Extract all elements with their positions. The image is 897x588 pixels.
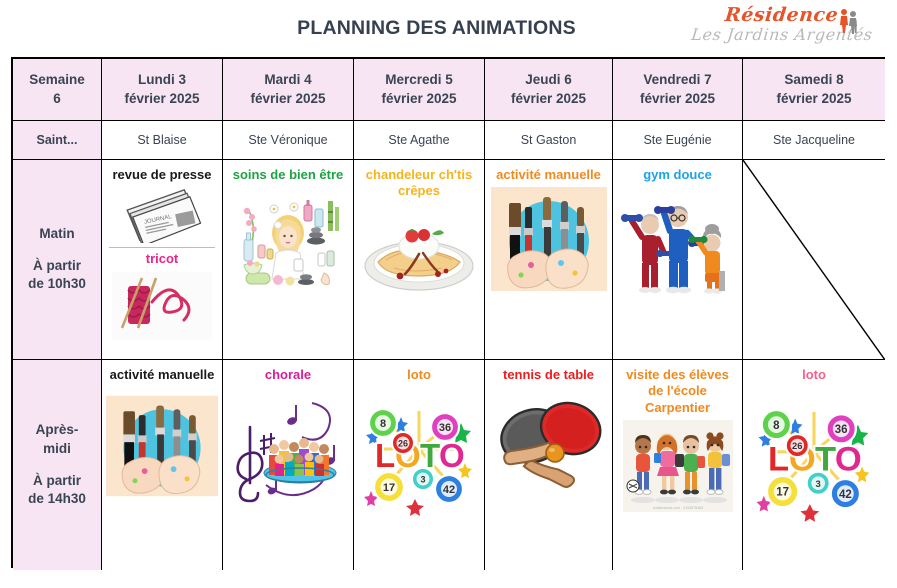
column-header-jeudi: Jeudi 6 février 2025: [485, 59, 613, 121]
crepes-icon: [360, 204, 478, 300]
schoolkids-icon: shutterstock.com · 2153675463: [623, 420, 733, 512]
activity-label: tennis de table: [501, 367, 596, 383]
activity-cell-matin-jeudi[interactable]: activité manuelle: [485, 160, 613, 360]
svg-text:8: 8: [380, 418, 386, 430]
day-date: février 2025: [124, 91, 199, 106]
svg-text:42: 42: [839, 489, 852, 501]
day-name: Mardi 4: [264, 72, 311, 87]
slot-name-line1: Après-: [36, 421, 79, 440]
saints-row-header: Saint...: [13, 121, 102, 160]
activity-cell-matin-vendredi[interactable]: gym douce: [613, 160, 743, 360]
activity-label: loto: [405, 367, 433, 383]
diagonal-strike-icon: [743, 160, 885, 360]
slot-label-apres-midi: Après- midi À partir de 14h30: [13, 360, 102, 570]
activity-cell-matin-mercredi[interactable]: chandeleur ch'tis crêpes: [354, 160, 485, 360]
day-date: février 2025: [776, 91, 851, 106]
svg-text:42: 42: [443, 484, 455, 496]
activity-cell-matin-lundi[interactable]: revue de presse JOURNAL tricot: [102, 160, 223, 360]
paintbrushes-icon: [106, 387, 218, 505]
activity-cell-apresmidi-mercredi[interactable]: loto: [354, 360, 485, 570]
activity-label: soins de bien être: [231, 167, 346, 183]
activity-label: chandeleur ch'tis crêpes: [358, 167, 480, 200]
svg-text:3: 3: [816, 478, 821, 489]
activity-cell-apresmidi-jeudi[interactable]: tennis de table: [485, 360, 613, 570]
cell-divider: [109, 247, 214, 248]
activity-cell-apresmidi-vendredi[interactable]: visite des élèves de l'école Carpentier: [613, 360, 743, 570]
loto-icon: L O T O 8 36 26 3 17: [749, 387, 879, 525]
activity-label: chorale: [263, 367, 313, 383]
saint-vendredi: Ste Eugénie: [613, 121, 743, 160]
column-header-mercredi: Mercredi 5 février 2025: [354, 59, 485, 121]
saint-mardi: Ste Véronique: [223, 121, 354, 160]
knitting-icon: [112, 272, 212, 340]
saint-jeudi: St Gaston: [485, 121, 613, 160]
day-name: Mercredi 5: [385, 72, 453, 87]
svg-text:8: 8: [773, 420, 780, 432]
column-header-samedi: Samedi 8 février 2025: [743, 59, 885, 121]
activity-label: revue de presse: [110, 167, 213, 183]
saint-samedi: Ste Jacqueline: [743, 121, 885, 160]
column-header-lundi: Lundi 3 février 2025: [102, 59, 223, 121]
slot-label-matin: Matin À partir de 10h30: [13, 160, 102, 360]
activity-label-secondary: tricot: [144, 251, 181, 267]
gym-seniors-icon: [620, 187, 736, 297]
residence-logo: Résidence Les Jardins Argentés: [682, 6, 882, 54]
saint-mercredi: Ste Agathe: [354, 121, 485, 160]
svg-text:shutterstock.com · 2153675463: shutterstock.com · 2153675463: [652, 506, 702, 510]
svg-text:O: O: [835, 441, 862, 479]
slot-time-line1: À partir: [33, 257, 81, 276]
week-number: 6: [53, 91, 61, 106]
day-date: février 2025: [640, 91, 715, 106]
pingpong-icon: [487, 387, 611, 499]
day-name: Lundi 3: [138, 72, 186, 87]
day-name: Jeudi 6: [525, 72, 572, 87]
slot-time-line2: de 14h30: [28, 490, 86, 509]
planning-page: PLANNING DES ANIMATIONS Résidence Les Ja…: [0, 0, 897, 588]
logo-line-1: Résidence: [724, 6, 839, 25]
paintbrushes-icon: [491, 187, 607, 291]
newspaper-icon: JOURNAL: [119, 187, 205, 243]
activity-label: gym douce: [641, 167, 714, 183]
planning-table: Semaine 6 Lundi 3 février 2025 Mardi 4 f…: [11, 57, 885, 568]
activity-label: visite des élèves de l'école Carpentier: [617, 367, 738, 416]
slot-name: Matin: [39, 225, 74, 244]
activity-label: activité manuelle: [108, 367, 217, 383]
saint-lundi: St Blaise: [102, 121, 223, 160]
activity-cell-apresmidi-samedi[interactable]: loto: [743, 360, 885, 570]
day-date: février 2025: [250, 91, 325, 106]
svg-text:26: 26: [792, 440, 802, 451]
page-header: PLANNING DES ANIMATIONS Résidence Les Ja…: [0, 0, 897, 58]
day-date: février 2025: [511, 91, 586, 106]
activity-label: activité manuelle: [494, 167, 603, 183]
activity-label: loto: [800, 367, 828, 383]
column-header-vendredi: Vendredi 7 février 2025: [613, 59, 743, 121]
column-header-week: Semaine 6: [13, 59, 102, 121]
activity-cell-apresmidi-mardi[interactable]: chorale: [223, 360, 354, 570]
spa-icon: [232, 187, 344, 295]
svg-text:17: 17: [776, 487, 789, 499]
choir-icon: [226, 387, 350, 507]
column-header-mardi: Mardi 4 février 2025: [223, 59, 354, 121]
slot-time-line2: de 10h30: [28, 275, 86, 294]
loto-icon: L O T O 8 36 26 3 17: [357, 387, 481, 519]
svg-text:26: 26: [398, 439, 408, 449]
svg-text:O: O: [439, 437, 465, 474]
activity-cell-apresmidi-lundi[interactable]: activité manuelle: [102, 360, 223, 570]
svg-text:36: 36: [439, 422, 451, 434]
elderly-couple-icon: [838, 8, 860, 34]
day-date: février 2025: [381, 91, 456, 106]
svg-text:17: 17: [383, 482, 395, 494]
activity-cell-matin-samedi-empty[interactable]: [743, 160, 885, 360]
svg-text:3: 3: [420, 475, 425, 485]
day-name: Samedi 8: [784, 72, 843, 87]
slot-time-line1: À partir: [33, 472, 81, 491]
slot-name-line2: midi: [43, 440, 71, 459]
day-name: Vendredi 7: [643, 72, 711, 87]
week-label: Semaine: [29, 72, 85, 87]
activity-cell-matin-mardi[interactable]: soins de bien être: [223, 160, 354, 360]
svg-text:36: 36: [835, 424, 848, 436]
